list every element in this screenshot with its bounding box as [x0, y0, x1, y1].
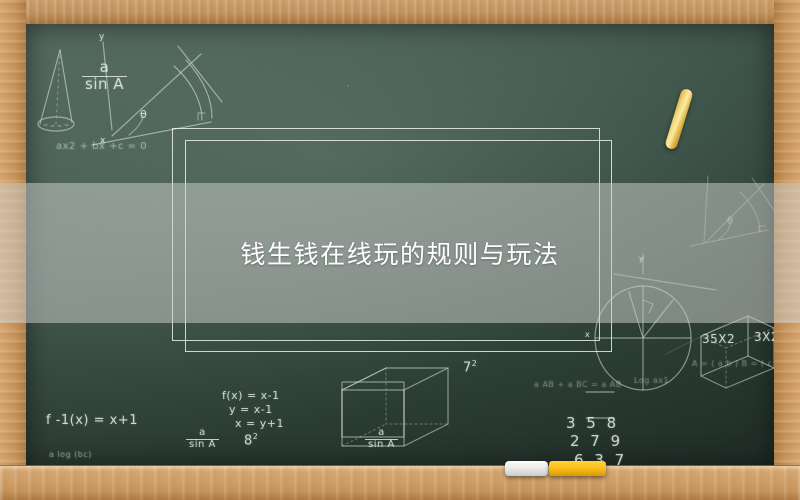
chalk-matrix-label-3x2: 3X2 — [754, 330, 774, 344]
fraction-numerator: a — [196, 428, 209, 439]
power-exponent: 2 — [253, 432, 259, 441]
chalk-quadratic-equation: ax2 + bx +c = 0 — [56, 141, 147, 152]
chalk-log-ax1: Log ax1 — [634, 376, 669, 385]
chalk-function-line-1: f(x) = x-1 — [222, 389, 280, 402]
chalk-matrix-label-35x2: 35X2 — [702, 332, 735, 346]
chalkboard-banner: a sin A y x θ ax2 + bx +c = 0 f(x) = x-1… — [0, 0, 800, 500]
cone-diagram — [38, 50, 74, 131]
chalk-tray — [0, 466, 800, 500]
fraction-numerator: a — [97, 60, 113, 76]
chalk-axis-label-x-bottomright: x — [585, 330, 590, 339]
chalk-power-seven: 72 — [463, 359, 477, 375]
chalk-long-division-row-2: 2 7 9 — [570, 432, 623, 450]
eraser-icon — [505, 461, 548, 476]
chalk-long-division-row-1: 3 5 8 — [566, 414, 619, 432]
fraction-numerator: a — [375, 428, 388, 439]
chalk-stick-tray-icon — [549, 461, 606, 476]
chalk-axis-label-y-topleft: y — [99, 32, 105, 42]
angle-axes-diagram — [92, 42, 222, 145]
chalk-triangle-inequality: a AB + a BC = a AB — [534, 380, 622, 389]
chalk-log-bc: a log (bc) — [49, 450, 92, 459]
power-exponent: 2 — [472, 359, 478, 368]
chalk-matrix-row: A = ( a b ) B = ( c d ) I = ( e f ) — [692, 359, 774, 368]
long-division-marks — [222, 378, 614, 428]
page-title: 钱生钱在线玩的规则与玩法 — [0, 183, 800, 323]
fraction-denominator: sin A — [186, 439, 219, 451]
chalk-function-line-2: y = x-1 — [229, 403, 273, 416]
cube-3d-diagram — [701, 312, 774, 388]
chalk-angle-symbol-topleft: θ — [140, 108, 147, 121]
power-base: 8 — [244, 433, 253, 448]
fraction-denominator: sin A — [82, 76, 127, 93]
chalk-inverse-function: f -1(x) = x+1 — [46, 413, 138, 428]
chalk-power-eight: 82 — [244, 432, 258, 448]
cube-diagram-body — [342, 368, 448, 446]
power-base: 7 — [463, 360, 472, 375]
chalk-axis-label-x-topleft: x — [100, 136, 106, 146]
chalk-fraction-a-sinA-topleft: a sin A — [82, 60, 127, 93]
chalk-fraction-a-sinA-center: a sin A — [365, 428, 398, 450]
chalk-function-line-3: x = y+1 — [235, 417, 284, 430]
fraction-denominator: sin A — [365, 439, 398, 451]
frame-top-rail — [0, 0, 800, 24]
chalk-fraction-a-sinA-bottomleft: a sin A — [186, 428, 219, 450]
